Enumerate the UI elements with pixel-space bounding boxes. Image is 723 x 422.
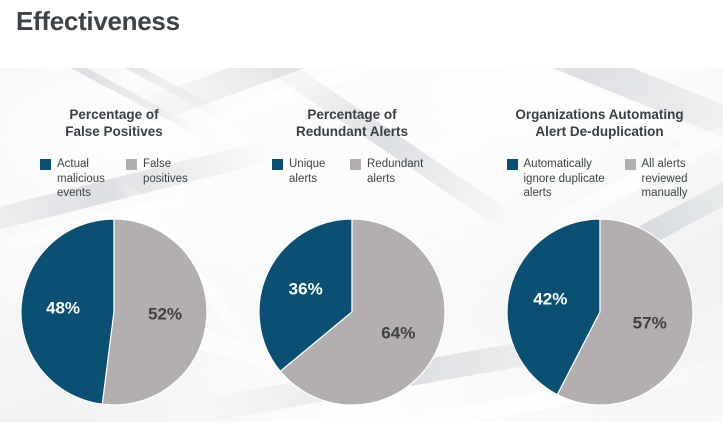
chart-title-line-1: Organizations Automating xyxy=(476,106,723,123)
legend-swatch-icon xyxy=(507,159,518,170)
legend-swatch-icon xyxy=(350,159,361,170)
legend-item-label: Actual malicious events xyxy=(57,157,105,201)
chart-title-line-1: Percentage of xyxy=(0,106,228,123)
pie-chart: 36% 64% xyxy=(228,217,476,407)
pie-label-secondary: 64% xyxy=(381,323,415,342)
legend-item-label: Automatically ignore duplicate alerts xyxy=(524,157,605,201)
chart-legend: Unique alerts Redundant alerts xyxy=(228,157,480,186)
page-title: Effectiveness xyxy=(16,6,180,37)
chart-redundant-alerts: Percentage of Redundant Alerts Unique al… xyxy=(228,62,476,422)
chart-title-line-2: Alert De-duplication xyxy=(476,123,723,140)
pie-label-primary: 48% xyxy=(46,298,80,317)
chart-false-positives: Percentage of False Positives Actual mal… xyxy=(0,62,228,422)
chart-alert-deduplication: Organizations Automating Alert De-duplic… xyxy=(476,62,723,422)
chart-legend: Actual malicious events False positives xyxy=(0,157,236,201)
legend-item-primary[interactable]: Actual malicious events xyxy=(40,157,126,201)
legend-item-secondary[interactable]: Redundant alerts xyxy=(350,157,440,186)
legend-swatch-icon xyxy=(625,159,636,170)
chart-title-line-2: Redundant Alerts xyxy=(228,123,476,140)
chart-legend: Automatically ignore duplicate alerts Al… xyxy=(476,157,723,201)
legend-item-label: False positives xyxy=(143,157,188,186)
pie-svg: 48% 52% xyxy=(19,217,209,407)
legend-swatch-icon xyxy=(40,159,51,170)
pie-chart: 48% 52% xyxy=(0,217,228,407)
chart-title-line-1: Percentage of xyxy=(228,106,476,123)
pie-label-primary: 42% xyxy=(533,289,567,308)
chart-title: Organizations Automating Alert De-duplic… xyxy=(476,106,723,140)
pie-chart: 42% 57% xyxy=(476,217,723,407)
legend-swatch-icon xyxy=(272,159,283,170)
legend-item-primary[interactable]: Unique alerts xyxy=(272,157,350,186)
chart-title: Percentage of Redundant Alerts xyxy=(228,106,476,140)
legend-item-primary[interactable]: Automatically ignore duplicate alerts xyxy=(507,157,625,201)
legend-item-secondary[interactable]: All alerts reviewed manually xyxy=(625,157,705,201)
pie-label-secondary: 52% xyxy=(148,305,182,324)
pie-label-secondary: 57% xyxy=(632,314,666,333)
legend-item-label: Redundant alerts xyxy=(367,157,423,186)
chart-title: Percentage of False Positives xyxy=(0,106,228,140)
legend-item-label: All alerts reviewed manually xyxy=(642,157,688,201)
legend-swatch-icon xyxy=(126,159,137,170)
chart-title-line-2: False Positives xyxy=(0,123,228,140)
pie-svg: 42% 57% xyxy=(505,217,695,407)
legend-item-label: Unique alerts xyxy=(289,157,325,186)
legend-item-secondary[interactable]: False positives xyxy=(126,157,204,201)
pie-label-primary: 36% xyxy=(289,280,323,299)
header-band: Effectiveness xyxy=(0,0,723,68)
charts-container: Percentage of False Positives Actual mal… xyxy=(0,62,723,422)
pie-svg: 36% 64% xyxy=(257,217,447,407)
